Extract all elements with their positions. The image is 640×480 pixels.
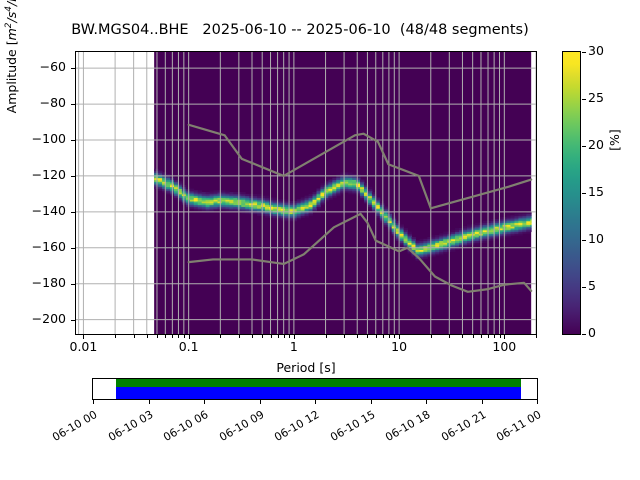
ppsd-cell bbox=[218, 190, 222, 192]
ppsd-cell bbox=[443, 232, 447, 234]
ppsd-cell bbox=[348, 172, 352, 174]
x-minor-tick-mark bbox=[462, 335, 463, 338]
ppsd-cell bbox=[229, 192, 233, 194]
ppsd-cell bbox=[487, 221, 491, 223]
x-minor-tick-mark bbox=[115, 335, 116, 338]
timeline-tick-label: 06-10 15 bbox=[317, 408, 377, 450]
ppsd-cell bbox=[316, 189, 320, 191]
x-tick-label: 100 bbox=[474, 339, 534, 354]
x-minor-tick-mark bbox=[147, 335, 148, 338]
x-tick-label: 10 bbox=[369, 339, 429, 354]
ppsd-cell bbox=[360, 180, 364, 182]
x-tick-label: 0.01 bbox=[53, 339, 113, 354]
ppsd-cell bbox=[522, 214, 526, 216]
y-tick-mark bbox=[71, 68, 75, 69]
ppsd-cell bbox=[249, 194, 253, 196]
x-minor-tick-mark bbox=[220, 335, 221, 338]
ppsd-cell bbox=[435, 235, 439, 237]
y-tick-label: −160 bbox=[18, 239, 66, 254]
ppsd-histogram-svg bbox=[76, 52, 536, 334]
ppsd-cell bbox=[518, 214, 522, 216]
ppsd-cell bbox=[475, 223, 479, 225]
x-axis-label: Period [s] bbox=[75, 360, 537, 375]
x-minor-tick-mark bbox=[157, 335, 158, 338]
ppsd-cell bbox=[495, 219, 499, 221]
ppsd-cell bbox=[320, 183, 324, 185]
x-minor-tick-mark bbox=[383, 335, 384, 338]
x-minor-tick-mark bbox=[239, 335, 240, 338]
timeline-tick-label: 06-10 12 bbox=[261, 408, 321, 450]
y-tick-mark bbox=[71, 284, 75, 285]
timeline-tick-label: 06-10 21 bbox=[428, 408, 488, 450]
ppsd-cell bbox=[225, 190, 229, 192]
ppsd-cell bbox=[467, 224, 471, 226]
timeline-tick-mark bbox=[93, 400, 94, 404]
y-axis-label-text: Amplitude [m2/s4/Hz] [dB] bbox=[4, 0, 19, 113]
ppsd-cell bbox=[221, 190, 225, 192]
ppsd-cell bbox=[344, 172, 348, 174]
x-minor-tick-mark bbox=[376, 335, 377, 338]
x-minor-tick-mark bbox=[500, 335, 501, 338]
x-minor-tick-mark bbox=[367, 335, 368, 338]
x-minor-tick-mark bbox=[473, 335, 474, 338]
x-minor-tick-mark bbox=[449, 335, 450, 338]
colorbar-tick-mark bbox=[582, 240, 586, 241]
ppsd-cell bbox=[273, 197, 277, 199]
timeline-tick-mark bbox=[204, 400, 205, 404]
colorbar-unit-label: [%] bbox=[607, 110, 622, 170]
ppsd-cell bbox=[237, 192, 241, 194]
x-minor-tick-mark bbox=[389, 335, 390, 338]
timeline-tick-label: 06-10 03 bbox=[95, 408, 155, 450]
ppsd-cell bbox=[309, 194, 313, 196]
ppsd-cell bbox=[297, 199, 301, 201]
ppsd-cell bbox=[328, 180, 332, 182]
x-minor-tick-mark bbox=[326, 335, 327, 338]
ppsd-cell bbox=[423, 239, 427, 241]
y-tick-mark bbox=[71, 140, 75, 141]
x-minor-tick-mark bbox=[271, 335, 272, 338]
ppsd-cell bbox=[408, 232, 412, 234]
ppsd-cell bbox=[194, 190, 198, 192]
ppsd-cell bbox=[404, 228, 408, 230]
x-minor-tick-mark bbox=[494, 335, 495, 338]
colorbar-tick-mark bbox=[582, 193, 586, 194]
colorbar-tick-label: 15 bbox=[588, 184, 604, 199]
colorbar-tick-label: 10 bbox=[588, 231, 604, 246]
timeline-coverage-band bbox=[116, 379, 521, 387]
ppsd-cell bbox=[313, 192, 317, 194]
y-tick-mark bbox=[71, 248, 75, 249]
ppsd-plot-canvas bbox=[76, 52, 536, 334]
ppsd-cell bbox=[412, 237, 416, 239]
ppsd-cell bbox=[174, 178, 178, 180]
ppsd-cell bbox=[158, 171, 162, 173]
timeline-segment-band bbox=[116, 387, 521, 399]
x-tick-label: 1 bbox=[264, 339, 324, 354]
timeline-tick-label: 06-11 00 bbox=[483, 408, 543, 450]
colorbar-tick-label: 30 bbox=[588, 43, 604, 58]
ppsd-cell bbox=[332, 178, 336, 180]
x-minor-tick-mark bbox=[481, 335, 482, 338]
x-minor-tick-mark bbox=[278, 335, 279, 338]
y-tick-label: −180 bbox=[18, 275, 66, 290]
colorbar-tick-mark bbox=[582, 99, 586, 100]
ppsd-cell bbox=[190, 189, 194, 191]
x-minor-tick-mark bbox=[488, 335, 489, 338]
colorbar bbox=[562, 51, 581, 335]
ppsd-cell bbox=[301, 197, 305, 199]
colorbar-tick-mark bbox=[582, 146, 586, 147]
ppsd-plot-axes bbox=[75, 51, 537, 335]
ppsd-cell bbox=[241, 192, 245, 194]
x-minor-tick-mark bbox=[284, 335, 285, 338]
y-tick-label: −200 bbox=[18, 311, 66, 326]
ppsd-cell bbox=[198, 190, 202, 192]
ppsd-cell bbox=[514, 214, 518, 216]
ppsd-cell bbox=[380, 201, 384, 203]
ppsd-cell bbox=[186, 187, 190, 189]
ppsd-cell bbox=[257, 194, 261, 196]
ppsd-cell bbox=[463, 226, 467, 228]
ppsd-cell bbox=[431, 235, 435, 237]
x-minor-tick-mark bbox=[289, 335, 290, 338]
x-tick-mark bbox=[399, 335, 400, 339]
x-tick-mark bbox=[504, 335, 505, 339]
x-minor-tick-mark bbox=[165, 335, 166, 338]
colorbar-tick-label: 25 bbox=[588, 90, 604, 105]
timeline-tick-mark bbox=[371, 400, 372, 404]
colorbar-tick-mark bbox=[582, 52, 586, 53]
timeline-tick-label: 06-10 09 bbox=[206, 408, 266, 450]
ppsd-cell bbox=[154, 169, 158, 171]
ppsd-cell bbox=[451, 230, 455, 232]
x-tick-mark bbox=[83, 335, 84, 339]
ppsd-cell bbox=[269, 197, 273, 199]
ppsd-cell bbox=[245, 194, 249, 196]
timeline-tick-mark bbox=[482, 400, 483, 404]
ppsd-cell bbox=[253, 194, 257, 196]
ppsd-cell bbox=[415, 241, 419, 243]
colorbar-tick-label: 5 bbox=[588, 278, 596, 293]
y-tick-mark bbox=[71, 104, 75, 105]
colorbar-tick-mark bbox=[582, 334, 586, 335]
x-minor-tick-mark bbox=[178, 335, 179, 338]
x-tick-mark bbox=[189, 335, 190, 339]
x-tick-mark bbox=[294, 335, 295, 339]
timeline-tick-mark bbox=[260, 400, 261, 404]
timeline-tick-label: 06-10 06 bbox=[150, 408, 210, 450]
x-minor-tick-mark bbox=[357, 335, 358, 338]
y-tick-label: −140 bbox=[18, 203, 66, 218]
x-minor-tick-mark bbox=[184, 335, 185, 338]
ppsd-cell bbox=[305, 196, 309, 198]
timeline-tick-mark bbox=[315, 400, 316, 404]
x-minor-tick-mark bbox=[134, 335, 135, 338]
y-tick-mark bbox=[71, 320, 75, 321]
ppsd-cell bbox=[162, 172, 166, 174]
ppsd-cell bbox=[419, 239, 423, 241]
ppsd-cell bbox=[214, 190, 218, 192]
x-minor-tick-mark bbox=[344, 335, 345, 338]
ppsd-cell bbox=[206, 192, 210, 194]
colorbar-tick-label: 0 bbox=[588, 325, 596, 340]
ppsd-cell bbox=[265, 196, 269, 198]
x-minor-tick-mark bbox=[431, 335, 432, 338]
ppsd-cell bbox=[210, 190, 214, 192]
ppsd-cell bbox=[376, 197, 380, 199]
x-minor-tick-mark bbox=[536, 335, 537, 338]
page-title: BW.MGS04..BHE 2025-06-10 -- 2025-06-10 (… bbox=[0, 22, 600, 38]
ppsd-cell bbox=[233, 192, 237, 194]
timeline-tick-mark bbox=[537, 400, 538, 404]
ppsd-cell bbox=[455, 228, 459, 230]
ppsd-cell bbox=[368, 187, 372, 189]
x-minor-tick-mark bbox=[394, 335, 395, 338]
ppsd-cell bbox=[202, 192, 206, 194]
y-tick-mark bbox=[71, 212, 75, 213]
timeline-tick-mark bbox=[149, 400, 150, 404]
x-minor-tick-mark bbox=[252, 335, 253, 338]
y-tick-label: −100 bbox=[18, 131, 66, 146]
y-tick-label: −120 bbox=[18, 167, 66, 182]
x-minor-tick-mark bbox=[172, 335, 173, 338]
colorbar-tick-mark bbox=[582, 287, 586, 288]
ppsd-cell bbox=[285, 199, 289, 201]
colorbar-tick-label: 20 bbox=[588, 137, 604, 152]
y-tick-label: −60 bbox=[18, 59, 66, 74]
timeline-tick-mark bbox=[426, 400, 427, 404]
ppsd-cell bbox=[439, 233, 443, 235]
ppsd-cell bbox=[384, 206, 388, 208]
ppsd-cell bbox=[281, 199, 285, 201]
ppsd-cell bbox=[511, 215, 515, 217]
ppsd-cell bbox=[400, 224, 404, 226]
x-minor-tick-mark bbox=[262, 335, 263, 338]
timeline-axes[interactable] bbox=[92, 378, 538, 400]
y-tick-mark bbox=[71, 176, 75, 177]
timeline-tick-label: 06-10 18 bbox=[372, 408, 432, 450]
timeline-tick-label: 06-10 00 bbox=[39, 408, 99, 450]
ppsd-cell bbox=[507, 215, 511, 217]
y-tick-label: −80 bbox=[18, 95, 66, 110]
ppsd-cell bbox=[483, 221, 487, 223]
x-tick-label: 0.1 bbox=[159, 339, 219, 354]
